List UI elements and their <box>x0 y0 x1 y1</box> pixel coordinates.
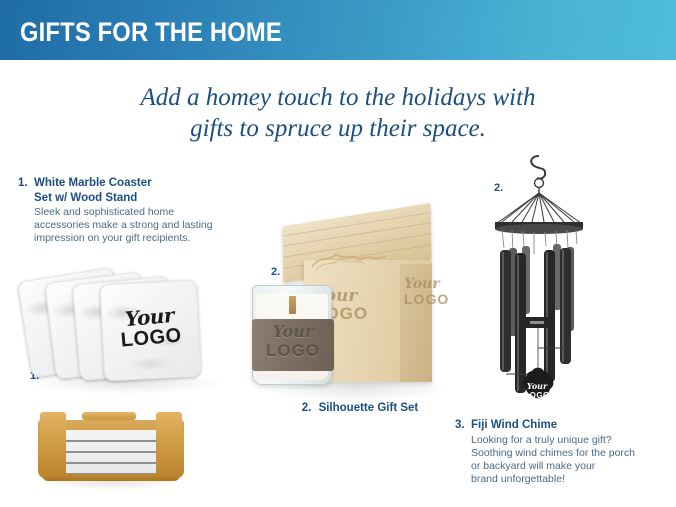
svg-text:LOGO: LOGO <box>524 391 550 400</box>
product-3-number: 3. <box>455 418 471 433</box>
product-1-title-line-2: Set w/ Wood Stand <box>34 192 137 204</box>
candle-sleeve-logo: Your LOGO <box>252 322 334 361</box>
product-3-description: Looking for a truly unique gift? Soothin… <box>455 434 660 486</box>
candle-jar: Your LOGO <box>252 285 332 385</box>
paper-shred-filler <box>310 249 390 271</box>
product-1-description: Sleek and sophisticated home accessories… <box>18 206 228 245</box>
stand-coaster-stack <box>60 430 162 476</box>
subtitle: Add a homey touch to the holidays with g… <box>88 82 588 144</box>
product-3-title: Fiji Wind Chime <box>471 418 557 433</box>
fiji-wind-chime-image: Your LOGO <box>482 152 612 402</box>
coaster-wood-stand-image <box>38 412 184 484</box>
marble-coaster-set-image: Your LOGO <box>22 268 237 398</box>
stand-post-left <box>40 412 66 476</box>
stand-top-bar <box>82 412 136 420</box>
product-3-desc-line-3: or backyard will make your <box>471 460 660 473</box>
logo-your-text: Your <box>404 277 449 292</box>
wind-chime-drawing: Your LOGO <box>482 152 612 402</box>
logo-logo-text: LOGO <box>404 292 449 307</box>
coaster-logo-imprint: Your LOGO <box>101 303 199 353</box>
product-1-heading: 1. White Marble Coaster Set w/ Wood Stan… <box>18 176 228 205</box>
product-2-caption: 2. Silhouette Gift Set <box>240 402 480 414</box>
stand-post-right <box>156 412 182 476</box>
product-1-desc-line-3: impression on your gift recipients. <box>34 232 228 245</box>
product-2-title: Silhouette Gift Set <box>319 402 419 414</box>
product-3-desc-line-1: Looking for a truly unique gift? <box>471 434 660 447</box>
product-1-text-block: 1. White Marble Coaster Set w/ Wood Stan… <box>18 176 228 245</box>
logo-logo-text: LOGO <box>252 341 334 361</box>
product-2-number: 2. <box>302 402 312 414</box>
subtitle-line-2: gifts to spruce up their space. <box>88 113 588 144</box>
stand-foot <box>42 474 180 481</box>
coaster-front: Your LOGO <box>100 280 202 382</box>
product-3-heading: 3. Fiji Wind Chime <box>455 418 660 433</box>
gift-box-side-logo: Your LOGO <box>404 277 449 307</box>
header-banner: GIFTS FOR THE HOME <box>0 0 676 60</box>
page-title: GIFTS FOR THE HOME <box>20 17 282 48</box>
product-1-number: 1. <box>18 176 34 191</box>
svg-text:Your: Your <box>527 381 548 391</box>
candle-leather-sleeve: Your LOGO <box>252 319 334 371</box>
candle-wick <box>289 296 296 314</box>
silhouette-gift-set-image: Your LOGO Your LOGO Your LOGO <box>252 215 457 400</box>
product-3-desc-line-4: brand unforgettable! <box>471 473 660 486</box>
product-1-desc-line-2: accessories make a strong and lasting <box>34 219 228 232</box>
product-1-title: White Marble Coaster Set w/ Wood Stand <box>34 176 152 205</box>
product-3-text-block: 3. Fiji Wind Chime Looking for a truly u… <box>455 418 660 486</box>
subtitle-line-1: Add a homey touch to the holidays with <box>88 82 588 113</box>
product-1-desc-line-1: Sleek and sophisticated home <box>34 206 228 219</box>
product-3-desc-line-2: Soothing wind chimes for the porch <box>471 447 660 460</box>
logo-your-text: Your <box>252 322 334 341</box>
product-1-title-line-1: White Marble Coaster <box>34 177 152 189</box>
